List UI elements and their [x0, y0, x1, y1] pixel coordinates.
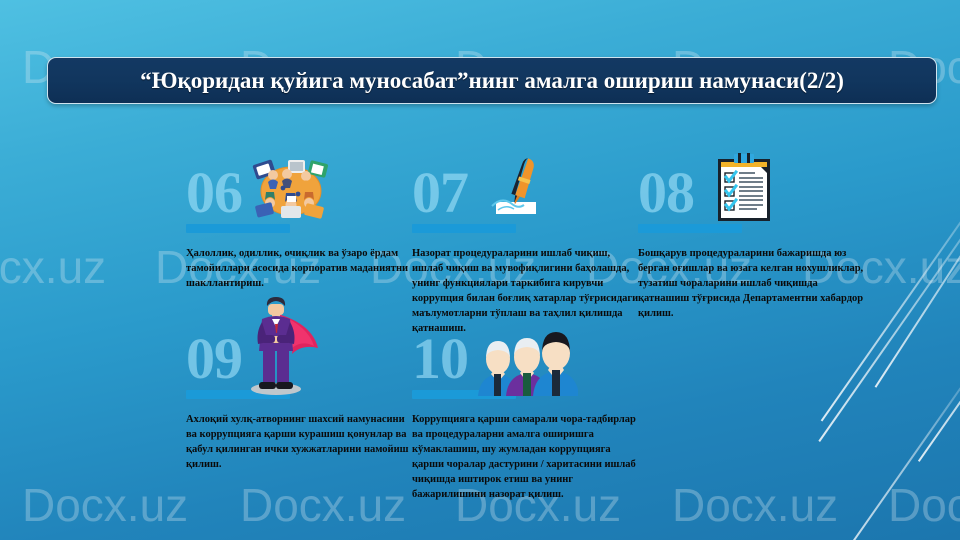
card-07: 07 Назорат процедураларини ишлаб [412, 170, 644, 336]
slide-title-bar: “Юқоридан қуйига муносабат”нинг амалга о… [47, 57, 937, 104]
card-number: 07 [412, 164, 468, 222]
card-body-text: Ахлоқий хулқ-атворнинг шахсий намунасини… [186, 412, 418, 472]
card-number: 08 [638, 164, 694, 222]
card-number: 10 [412, 330, 468, 388]
card-number-row: 06 [186, 170, 418, 232]
card-08: 08 [638, 170, 870, 321]
diagonal-streak-icon [875, 135, 960, 388]
card-number-row: 10 [412, 336, 644, 398]
superhero-businessman-icon [232, 296, 332, 401]
pen-signing-icon [478, 156, 558, 225]
card-body-text: Коррупцияга қарши самарали чора-тадбирла… [412, 412, 644, 502]
card-number-row: 07 [412, 170, 644, 232]
watermark: Docx.uz [672, 478, 838, 532]
accent-bar [186, 224, 290, 233]
slide-canvas: Docx.uz Docx.uz Docx.uz Docx.uz Docx.uz … [0, 0, 960, 540]
watermark: Docx.uz [888, 478, 960, 532]
watermark: Docx.uz [22, 478, 188, 532]
clipboard-checklist-icon [714, 153, 776, 228]
team-meeting-icon [248, 158, 334, 225]
page-title: “Юқоридан қуйига муносабат”нинг амалга о… [140, 68, 844, 94]
three-people-icon [474, 326, 578, 403]
card-09: 09 [186, 336, 418, 472]
card-body-text: Ҳалоллик, одиллик, очиқлик ва ўзаро ёрда… [186, 246, 418, 291]
card-body-text: Бошқарув процедураларини бажаришда юз бе… [638, 246, 870, 321]
card-body-text: Назорат процедураларини ишлаб чиқиш, ишл… [412, 246, 644, 336]
card-number: 06 [186, 164, 242, 222]
diagonal-streak-icon [828, 330, 960, 540]
card-number-row: 08 [638, 170, 870, 232]
watermark: Docx.uz [0, 240, 106, 294]
card-06: 06 [186, 170, 418, 291]
watermark: Docx.uz [240, 478, 406, 532]
accent-bar [412, 224, 516, 233]
card-10: 10 [412, 336, 644, 502]
card-number-row: 09 [186, 336, 418, 398]
